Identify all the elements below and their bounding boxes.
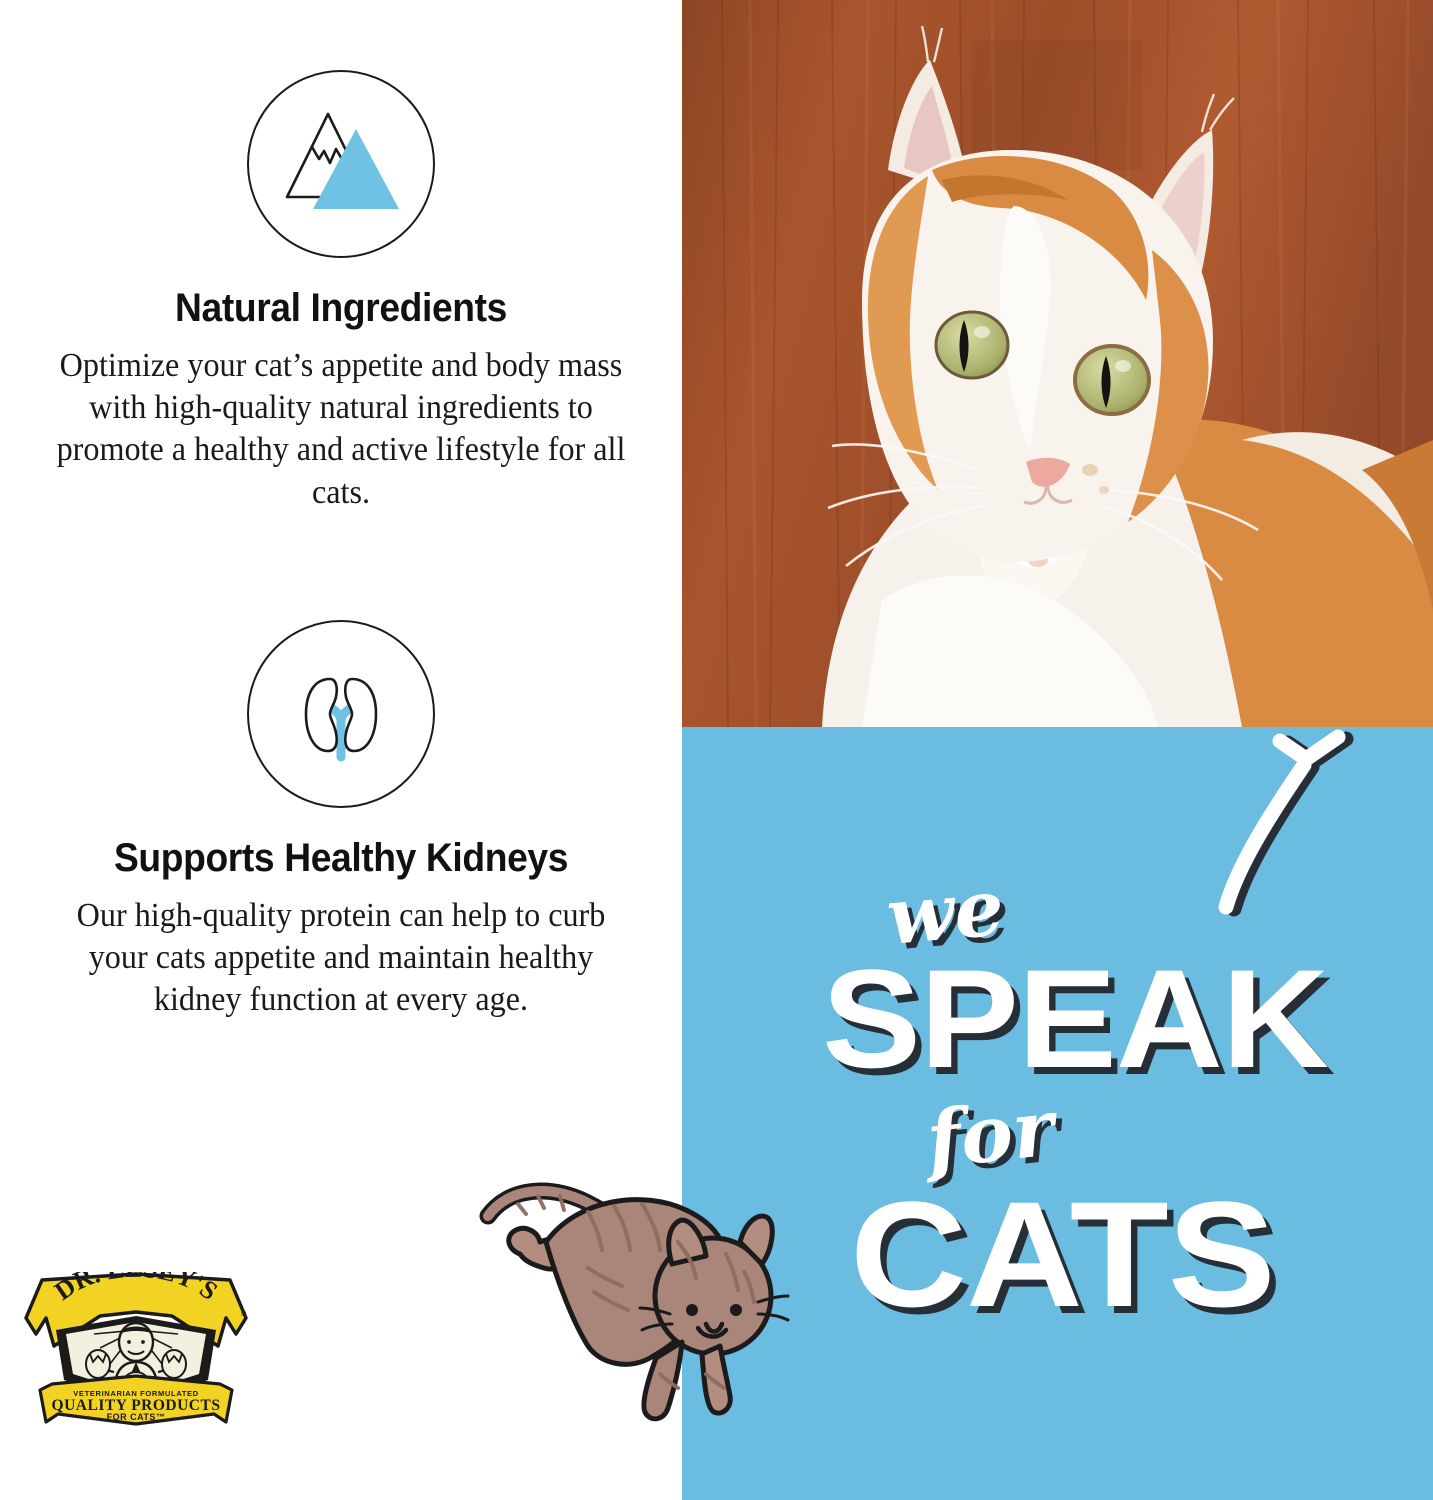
feature-title: Natural Ingredients [24, 286, 658, 331]
mountain-icon-svg [266, 89, 416, 239]
dr-elseys-logo-svg: DR. ELSEY'S ® [22, 1272, 250, 1430]
curved-up-arrow-svg [1202, 677, 1402, 927]
headline-word-speak: SPEAK [822, 949, 1328, 1089]
headline-word-we: we [883, 862, 1007, 963]
feature-supports-healthy-kidneys: Supports Healthy Kidneys Our high-qualit… [0, 620, 682, 1022]
leaping-cat-svg [468, 1168, 838, 1428]
curved-up-arrow-icon [1202, 677, 1402, 927]
mountain-icon [247, 70, 435, 258]
headline-word-for: for [923, 1083, 1059, 1187]
cat-photo [682, 0, 1433, 727]
logo-tagline-line3: FOR CATS™ [107, 1412, 166, 1422]
dr-elseys-logo: DR. ELSEY'S ® [22, 1272, 250, 1430]
leaping-cat-illustration [468, 1168, 838, 1428]
cat-photo-svg [682, 0, 1433, 727]
logo-registered-mark: ® [241, 1310, 247, 1318]
feature-title: Supports Healthy Kidneys [24, 836, 658, 881]
headline-word-cats: CATS [850, 1179, 1275, 1329]
feature-body: Optimize your cat’s appetite and body ma… [45, 345, 636, 514]
kidney-icon [247, 620, 435, 808]
feature-natural-ingredients: Natural Ingredients Optimize your cat’s … [0, 70, 682, 514]
feature-body: Our high-quality protein can help to cur… [45, 895, 636, 1022]
kidney-icon-svg [266, 639, 416, 789]
